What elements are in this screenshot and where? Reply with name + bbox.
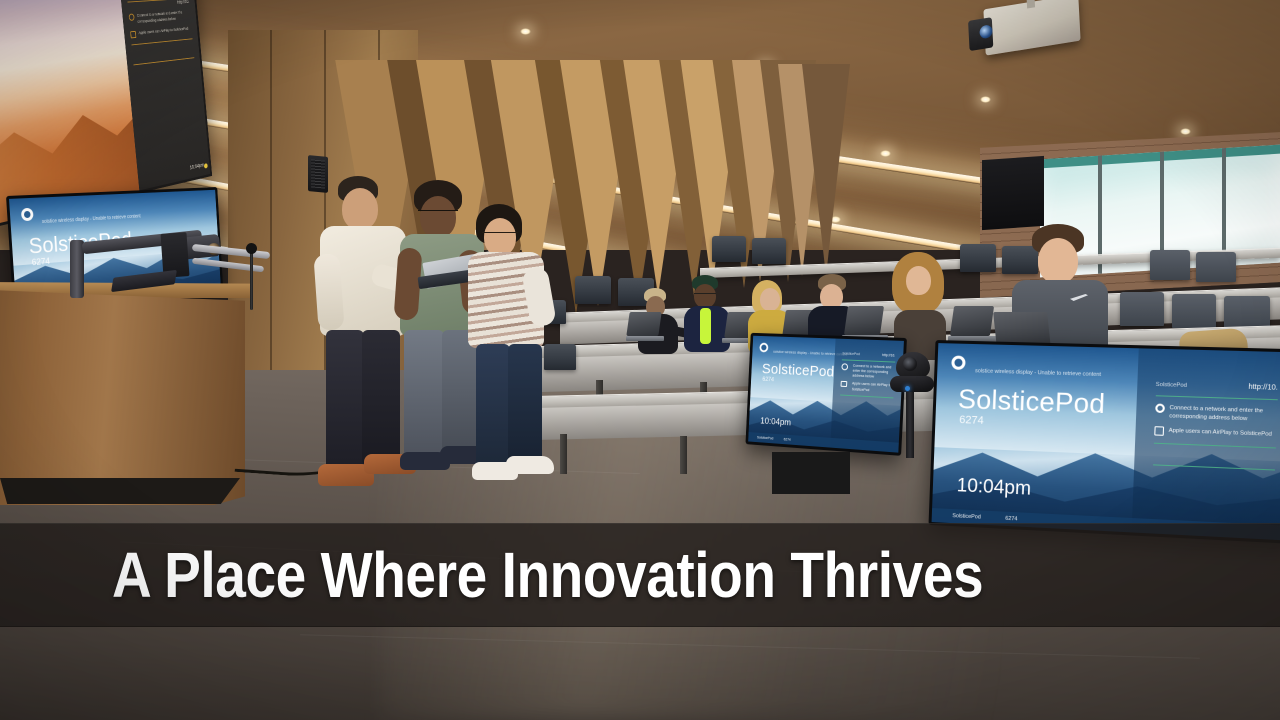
mid-panel-instruction: Apple users can AirPlay to SolsticePod	[852, 382, 894, 394]
right-panel-pod-label: SolsticePod	[1156, 382, 1187, 389]
laptop	[626, 312, 661, 336]
seat	[544, 344, 576, 370]
head	[420, 196, 456, 238]
seat	[1150, 250, 1190, 280]
right-display-clock: 10:04pm	[956, 475, 1031, 501]
glasses-icon	[418, 210, 458, 214]
mid-display-code: 6274	[762, 377, 774, 383]
status-dot-icon	[204, 163, 208, 169]
lectern	[0, 290, 245, 505]
rear-wall-monitor	[982, 156, 1044, 230]
laptop-base	[626, 336, 664, 341]
right-solstice-display: solstice wireless display - Unable to re…	[928, 340, 1280, 544]
right-panel-instruction: Connect to a network and enter the corre…	[1169, 404, 1277, 425]
leg	[362, 330, 400, 464]
ptz-status-led-icon	[905, 386, 910, 391]
seat	[1002, 246, 1038, 274]
mid-solstice-display: solstice wireless display - Unable to re…	[745, 333, 906, 456]
projector-mount	[1027, 0, 1036, 9]
gooseneck-microphone-head	[246, 243, 257, 254]
mid-display-clock: 10:04pm	[760, 416, 791, 428]
seat	[712, 236, 746, 262]
leg	[508, 344, 542, 464]
right-panel-instruction: Apple users can AirPlay to SolsticePod	[1169, 426, 1273, 438]
mid-display-info-panel: SolsticePod http://10. Connect to a netw…	[830, 339, 904, 453]
title-banner: A Place Where Innovation Thrives	[0, 523, 1280, 627]
seat	[1196, 252, 1236, 282]
shoe	[506, 456, 554, 474]
projection-instruction: Connect to a network and enter the corre…	[137, 9, 191, 25]
glasses-icon	[482, 232, 518, 236]
right-display-info-panel: SolsticePod http://10. Connect to a netw…	[1132, 348, 1280, 540]
seat	[960, 244, 996, 272]
projection-instruction: Apple users can AirPlay to SolsticePod	[138, 26, 188, 36]
projection-clock: 10:04pm	[190, 163, 205, 171]
mid-taskbar-code: 6274	[784, 437, 791, 441]
screen-mirror-icon	[1154, 426, 1164, 436]
mid-panel-pod-label: SolsticePod	[842, 352, 860, 357]
head	[342, 188, 378, 230]
ptz-camera-base	[890, 376, 934, 392]
mid-taskbar-pod: SolsticePod	[757, 435, 774, 440]
page-title: A Place Where Innovation Thrives	[112, 543, 983, 607]
ptz-camera-pole	[906, 392, 914, 458]
jacket-accent	[700, 308, 711, 344]
laptop	[950, 306, 994, 336]
screen-mirror-icon	[841, 381, 848, 387]
right-panel-url: http://10.	[1248, 384, 1278, 392]
head	[906, 266, 931, 295]
seat	[575, 276, 611, 304]
solstice-logo-icon	[129, 14, 135, 21]
mid-display-stand	[772, 452, 850, 494]
screen-mirror-icon	[130, 30, 136, 37]
lectern-base	[0, 478, 240, 504]
mid-panel-instruction: Connect to a network and enter the corre…	[852, 364, 894, 381]
glasses-icon	[694, 293, 716, 297]
right-display-code: 6274	[959, 414, 984, 427]
front-display-code: 6274	[31, 256, 50, 267]
seat	[1172, 294, 1216, 328]
leg	[476, 344, 510, 468]
head	[484, 218, 516, 256]
solstice-logo-icon	[1155, 403, 1165, 413]
ptz-conference-camera	[896, 352, 930, 378]
arm	[313, 253, 344, 331]
right-taskbar-code: 6274	[1005, 516, 1017, 523]
solstice-logo-icon	[842, 363, 849, 370]
head	[1038, 238, 1078, 284]
projector-lens-icon	[979, 24, 993, 39]
leg	[326, 330, 364, 468]
right-taskbar-pod: SolsticePod	[952, 513, 981, 520]
leg	[404, 330, 444, 458]
head	[760, 288, 780, 311]
lecture-hall-photo: SolsticePod http://10. Connect to a netw…	[0, 0, 1280, 720]
gooseneck-microphone-stem	[250, 248, 253, 310]
seat	[1120, 292, 1164, 326]
laptop	[844, 306, 884, 335]
mid-panel-url: http://10.	[882, 353, 895, 358]
seat	[752, 238, 786, 264]
ceiling-projector	[983, 0, 1080, 56]
